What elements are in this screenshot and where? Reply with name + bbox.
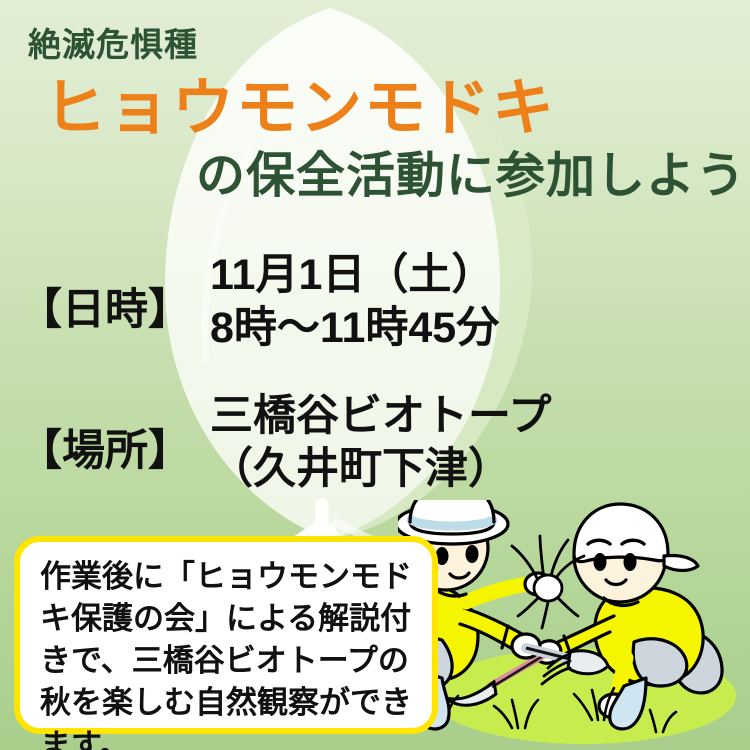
info-speech-bubble: 作業後に「ヒョウモンモドキ保護の会」による解説付きで、三橋谷ビオトープの秋を楽し…	[14, 536, 438, 734]
detail-row-location: 【場所】 三橋谷ビオトープ （久井町下津）	[0, 391, 750, 496]
detail-label-location: 【場所】	[0, 391, 210, 474]
detail-values-location: 三橋谷ビオトープ （久井町下津）	[210, 391, 551, 496]
children-weeding-illustration	[398, 500, 750, 750]
poster-canvas: 絶滅危惧種 ヒョウモンモドキ の保全活動に参加しよう！ 【日時】 11月1日（土…	[0, 0, 750, 750]
speech-bubble-text: 作業後に「ヒョウモンモドキ保護の会」による解説付きで、三橋谷ビオトープの秋を楽し…	[40, 556, 426, 750]
page-subtitle-call-to-action: の保全活動に参加しよう！	[196, 152, 750, 201]
kicker-endangered-species: 絶滅危惧種	[28, 28, 198, 61]
location-venue: 三橋谷ビオトープ	[210, 391, 551, 442]
location-address: （久井町下津）	[210, 444, 551, 495]
detail-values-datetime: 11月1日（土） 8時〜11時45分	[210, 250, 499, 355]
datetime-date: 11月1日（土）	[210, 250, 499, 301]
detail-row-datetime: 【日時】 11月1日（土） 8時〜11時45分	[0, 250, 750, 355]
page-title-species-name: ヒョウモンモドキ	[44, 78, 556, 140]
detail-label-datetime: 【日時】	[0, 250, 210, 333]
datetime-time: 8時〜11時45分	[210, 303, 499, 354]
event-details: 【日時】 11月1日（土） 8時〜11時45分 【場所】 三橋谷ビオトープ （久…	[0, 250, 750, 497]
